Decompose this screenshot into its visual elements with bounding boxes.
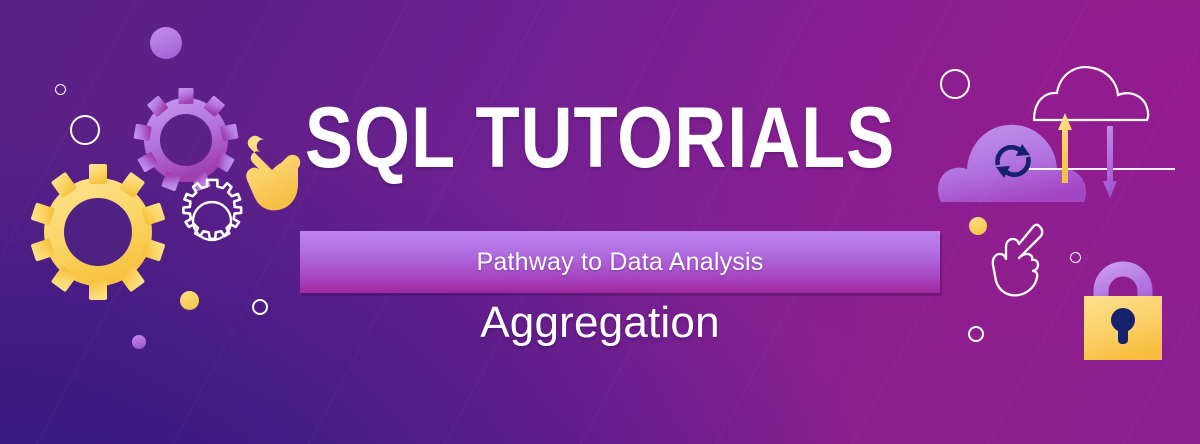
sql-tutorials-banner: SQL TUTORIALS Pathway to Data Analysis A… [0,0,1200,444]
pointing-hand-outline-icon [988,223,1050,301]
medium-ring [940,69,970,99]
topic-title: Aggregation [0,298,1200,348]
yellow-dot [969,217,987,235]
subtitle-text: Pathway to Data Analysis [477,248,764,277]
page-title: SQL TUTORIALS [96,96,1104,180]
title-block: SQL TUTORIALS [0,96,1200,180]
right-artwork-group [0,0,1200,444]
subtitle-bar: Pathway to Data Analysis [300,231,940,293]
